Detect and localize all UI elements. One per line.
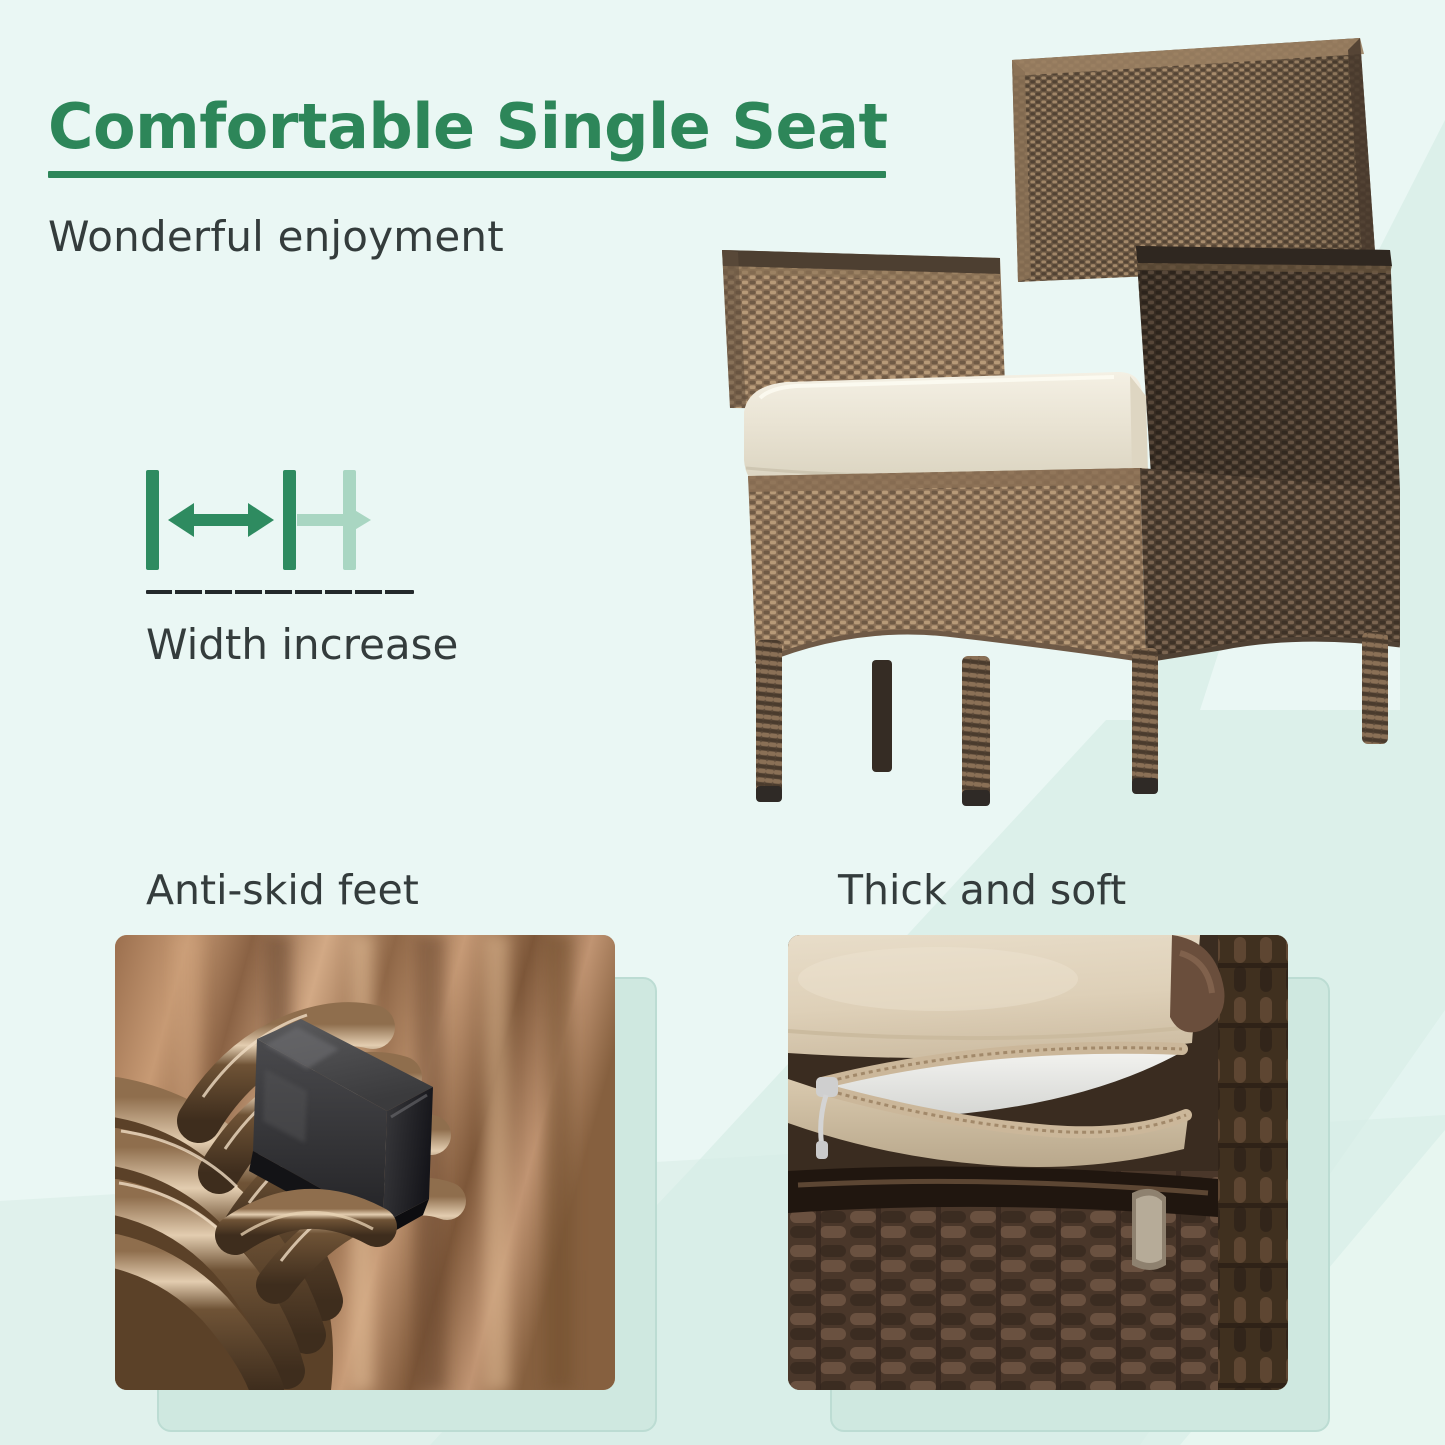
width-arrows-icon [146, 470, 436, 570]
header-block: Comfortable Single Seat Wonderful enjoym… [48, 94, 948, 261]
thick-soft-cushion-photo [788, 935, 1288, 1390]
feature-width-label: Width increase [146, 620, 486, 669]
chair-right-arm [1136, 246, 1400, 490]
width-bar-middle [283, 470, 296, 570]
chair-seat-frame [748, 468, 1146, 720]
page-title: Comfortable Single Seat [48, 94, 948, 159]
seat-cushion-detail [788, 935, 1225, 1167]
thick-soft-cushion-photo-slot [788, 935, 1288, 1390]
title-underline [48, 171, 886, 178]
double-arrow-icon [168, 500, 274, 540]
caption-anti-skid-feet: Anti-skid feet [146, 866, 419, 914]
anti-skid-foot-photo-slot [115, 935, 615, 1390]
single-arrow-icon [297, 500, 371, 540]
chair-seat-frame-side [1140, 468, 1400, 710]
page-subtitle: Wonderful enjoyment [48, 212, 948, 261]
caption-thick-and-soft: Thick and soft [838, 866, 1126, 914]
width-bar-left [146, 470, 159, 570]
ruler-line [146, 590, 414, 594]
anti-skid-foot-photo [115, 935, 615, 1390]
infographic-canvas: Comfortable Single Seat Wonderful enjoym… [0, 0, 1445, 1445]
chair-bracket [1132, 1189, 1166, 1270]
chair-back [1012, 38, 1376, 282]
feature-width-increase: Width increase [146, 470, 486, 669]
